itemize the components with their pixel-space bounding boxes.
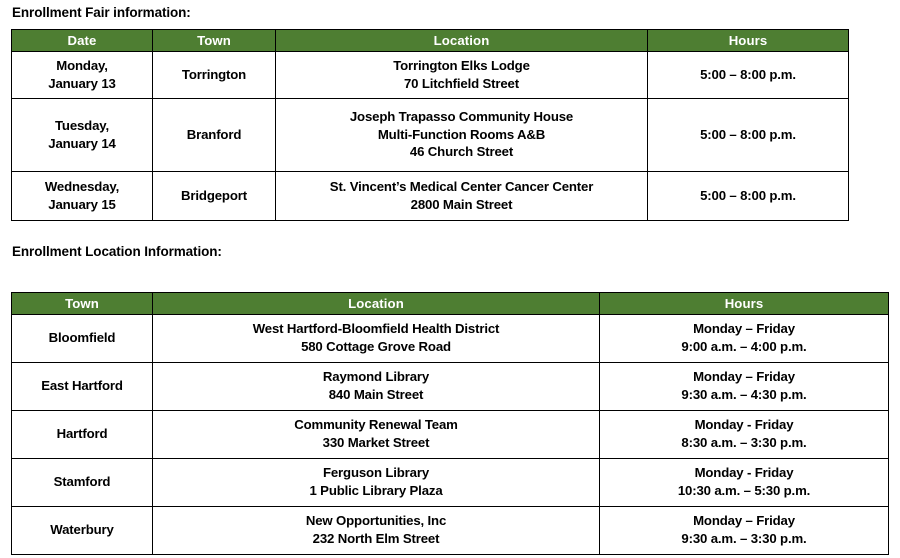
cell-hours: 5:00 – 8:00 p.m.	[648, 172, 849, 221]
cell-date: Wednesday,January 15	[12, 172, 153, 221]
cell-location: Torrington Elks Lodge70 Litchfield Stree…	[276, 52, 648, 99]
table-row: WaterburyNew Opportunities, Inc232 North…	[12, 507, 889, 555]
cell-location: Joseph Trapasso Community HouseMulti-Fun…	[276, 99, 648, 172]
table-header-row: Date Town Location Hours	[12, 30, 849, 52]
cell-town: Branford	[153, 99, 276, 172]
cell-hours: Monday – Friday9:30 a.m. – 3:30 p.m.	[600, 507, 889, 555]
table-row: Wednesday,January 15BridgeportSt. Vincen…	[12, 172, 849, 221]
column-header-town: Town	[12, 293, 153, 315]
table-row: Monday,January 13TorringtonTorrington El…	[12, 52, 849, 99]
cell-location: Raymond Library840 Main Street	[153, 363, 600, 411]
cell-hours: 5:00 – 8:00 p.m.	[648, 52, 849, 99]
cell-location: St. Vincent’s Medical Center Cancer Cent…	[276, 172, 648, 221]
cell-date: Tuesday,January 14	[12, 99, 153, 172]
table-row: BloomfieldWest Hartford-Bloomfield Healt…	[12, 315, 889, 363]
table-header-row: Town Location Hours	[12, 293, 889, 315]
cell-town: Waterbury	[12, 507, 153, 555]
column-header-hours: Hours	[648, 30, 849, 52]
cell-location: New Opportunities, Inc232 North Elm Stre…	[153, 507, 600, 555]
enrollment-fair-table: Date Town Location Hours Monday,January …	[11, 29, 849, 221]
enrollment-fair-heading: Enrollment Fair information:	[12, 5, 191, 20]
cell-hours: 5:00 – 8:00 p.m.	[648, 99, 849, 172]
cell-town: Hartford	[12, 411, 153, 459]
cell-location: West Hartford-Bloomfield Health District…	[153, 315, 600, 363]
table-row: East HartfordRaymond Library840 Main Str…	[12, 363, 889, 411]
cell-hours: Monday - Friday8:30 a.m. – 3:30 p.m.	[600, 411, 889, 459]
cell-town: Bloomfield	[12, 315, 153, 363]
table-row: StamfordFerguson Library1 Public Library…	[12, 459, 889, 507]
cell-town: East Hartford	[12, 363, 153, 411]
column-header-location: Location	[153, 293, 600, 315]
cell-hours: Monday – Friday9:00 a.m. – 4:00 p.m.	[600, 315, 889, 363]
cell-hours: Monday - Friday10:30 a.m. – 5:30 p.m.	[600, 459, 889, 507]
cell-town: Torrington	[153, 52, 276, 99]
table-row: Tuesday,January 14BranfordJoseph Trapass…	[12, 99, 849, 172]
cell-date: Monday,January 13	[12, 52, 153, 99]
cell-hours: Monday – Friday9:30 a.m. – 4:30 p.m.	[600, 363, 889, 411]
table-row: HartfordCommunity Renewal Team330 Market…	[12, 411, 889, 459]
column-header-location: Location	[276, 30, 648, 52]
cell-town: Bridgeport	[153, 172, 276, 221]
cell-town: Stamford	[12, 459, 153, 507]
cell-location: Ferguson Library1 Public Library Plaza	[153, 459, 600, 507]
column-header-town: Town	[153, 30, 276, 52]
cell-location: Community Renewal Team330 Market Street	[153, 411, 600, 459]
enrollment-location-table: Town Location Hours BloomfieldWest Hartf…	[11, 292, 889, 555]
document-page: Enrollment Fair information: Date Town L…	[0, 0, 900, 558]
column-header-date: Date	[12, 30, 153, 52]
enrollment-location-heading: Enrollment Location Information:	[12, 244, 222, 259]
column-header-hours: Hours	[600, 293, 889, 315]
